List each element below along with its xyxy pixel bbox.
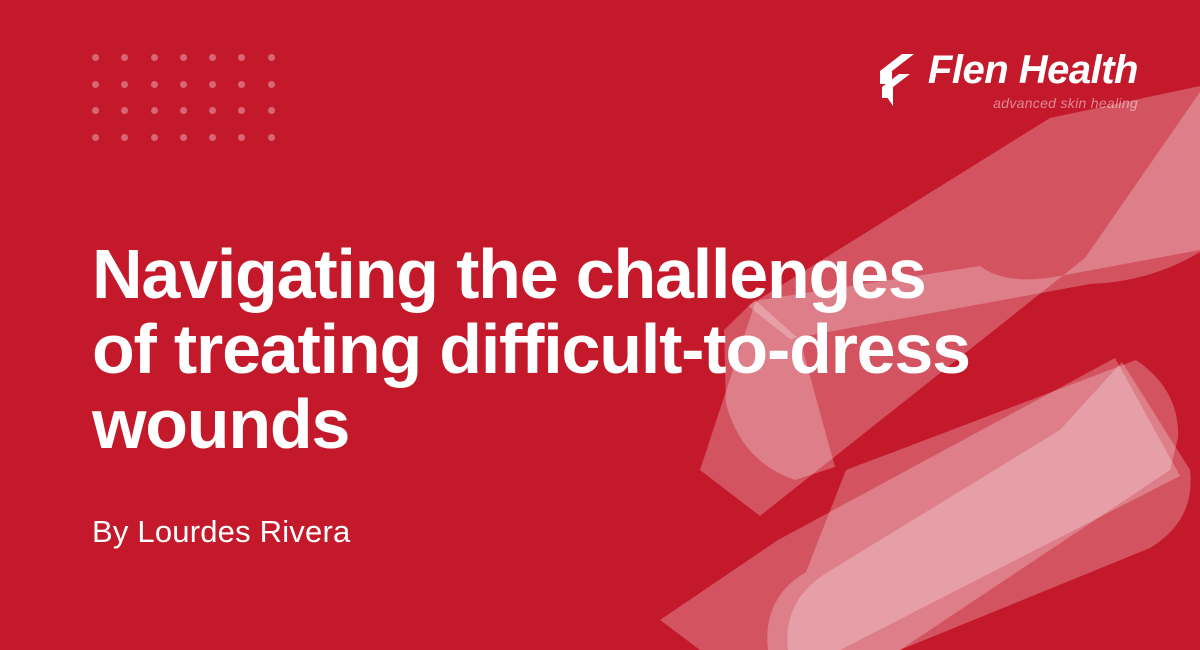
dot-icon <box>209 54 216 61</box>
dot-icon <box>238 134 245 141</box>
dot-icon <box>238 81 245 88</box>
dot-grid-cell <box>92 54 121 81</box>
brand-tagline: advanced skin healing <box>993 95 1138 111</box>
dot-icon <box>268 81 275 88</box>
dot-grid-cell <box>92 81 121 108</box>
dot-icon <box>238 107 245 114</box>
dot-grid-cell <box>238 54 267 81</box>
dot-icon <box>151 54 158 61</box>
dot-icon <box>92 107 99 114</box>
dot-grid-cell <box>121 107 150 134</box>
dot-grid-cell <box>151 81 180 108</box>
dot-icon <box>121 107 128 114</box>
dot-grid-cell <box>238 134 267 161</box>
dot-icon <box>268 134 275 141</box>
dot-icon <box>151 81 158 88</box>
dot-grid-cell <box>268 134 297 161</box>
brand-name: Flen Health <box>928 50 1138 90</box>
dot-icon <box>180 134 187 141</box>
dot-grid <box>92 54 297 160</box>
dot-grid-cell <box>151 54 180 81</box>
brand-logo: Flen Health advanced skin healing <box>876 50 1138 111</box>
dot-icon <box>92 81 99 88</box>
dot-grid-cell <box>151 134 180 161</box>
dot-grid-cell <box>92 107 121 134</box>
dot-grid-cell <box>268 107 297 134</box>
dot-icon <box>209 134 216 141</box>
dot-icon <box>151 107 158 114</box>
brand-text-block: Flen Health advanced skin healing <box>928 50 1138 111</box>
dot-grid-cell <box>209 54 238 81</box>
dot-grid-cell <box>92 134 121 161</box>
headline-line-2: of treating difficult-to-dress <box>92 312 1072 387</box>
page-title: Navigating the challenges of treating di… <box>92 237 1072 462</box>
dot-grid-cell <box>238 107 267 134</box>
byline: By Lourdes Rivera <box>92 514 350 550</box>
dot-grid-cell <box>121 81 150 108</box>
dot-icon <box>209 107 216 114</box>
title-slide: Flen Health advanced skin healing Naviga… <box>0 0 1200 650</box>
dot-grid-cell <box>180 81 209 108</box>
dot-icon <box>92 134 99 141</box>
dot-icon <box>151 134 158 141</box>
dot-grid-cell <box>180 54 209 81</box>
dot-grid-cell <box>268 81 297 108</box>
dot-icon <box>92 54 99 61</box>
headline-line-3: wounds <box>92 387 1072 462</box>
dot-grid-cell <box>180 107 209 134</box>
dot-grid-cell <box>151 107 180 134</box>
dot-grid-cell <box>238 81 267 108</box>
dot-grid-cell <box>209 107 238 134</box>
headline-line-1: Navigating the challenges <box>92 237 1072 312</box>
dot-icon <box>180 54 187 61</box>
dot-icon <box>180 81 187 88</box>
dot-grid-cell <box>268 54 297 81</box>
dot-grid-cell <box>121 54 150 81</box>
dot-grid-cell <box>121 134 150 161</box>
dot-icon <box>268 54 275 61</box>
dot-icon <box>121 81 128 88</box>
dot-grid-cell <box>209 81 238 108</box>
dot-icon <box>121 134 128 141</box>
dot-icon <box>180 107 187 114</box>
dot-icon <box>209 81 216 88</box>
dot-icon <box>238 54 245 61</box>
dot-grid-cell <box>209 134 238 161</box>
dot-grid-cell <box>180 134 209 161</box>
dot-icon <box>268 107 275 114</box>
flen-f-mark-icon <box>876 54 914 106</box>
dot-icon <box>121 54 128 61</box>
